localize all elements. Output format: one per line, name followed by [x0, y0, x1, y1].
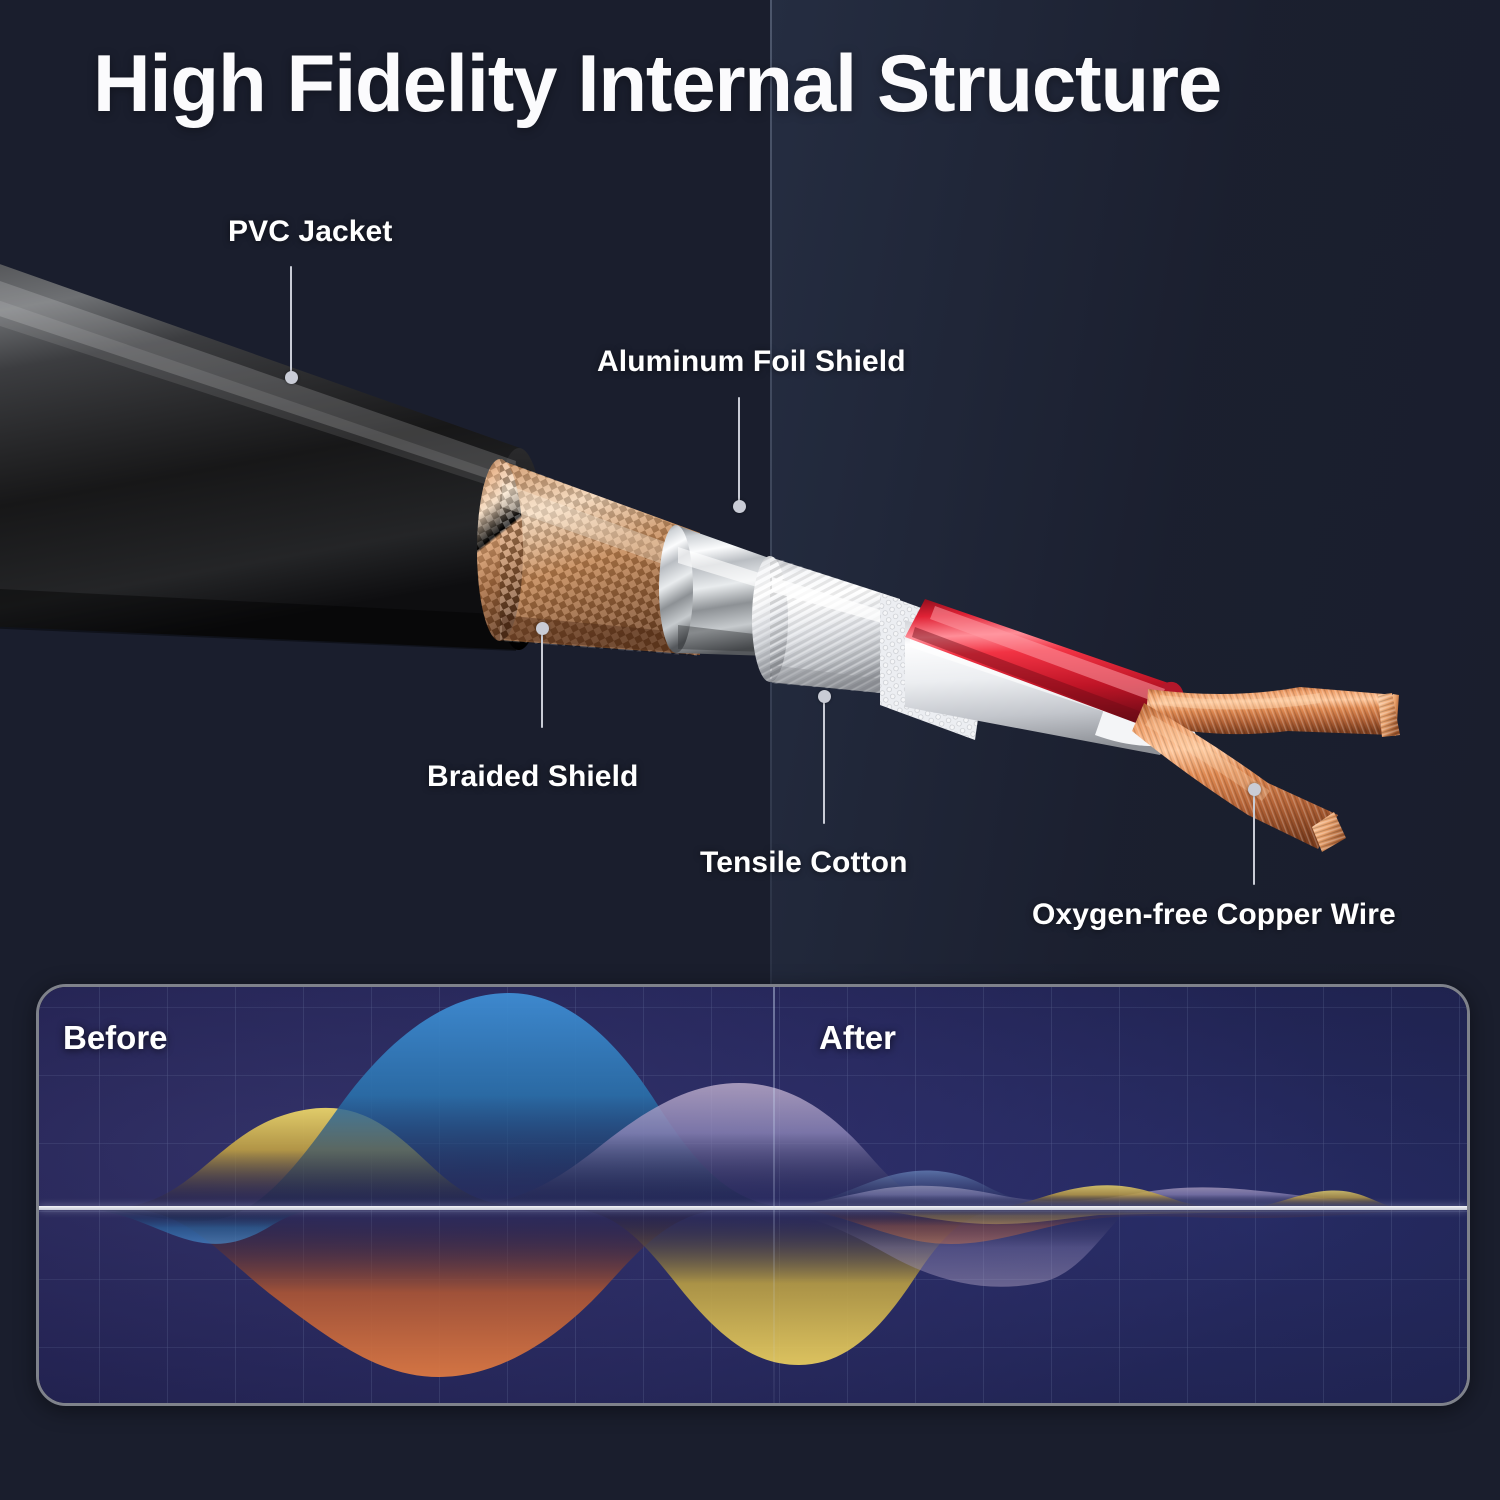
panel-vertical-divider — [773, 987, 775, 1403]
leader-line-aluminum-foil — [738, 397, 740, 505]
callout-label-pvc-jacket: PVC Jacket — [228, 215, 392, 248]
leader-dot-tensile-cotton — [818, 690, 831, 703]
callout-copper-wire: Oxygen-free Copper Wire — [1032, 898, 1396, 932]
callout-label-aluminum-foil: Aluminum Foil Shield — [597, 345, 906, 378]
leader-dot-aluminum-foil — [733, 500, 746, 513]
cable-layer-pvc-jacket — [0, 250, 545, 651]
before-label: Before — [63, 1019, 168, 1057]
leader-line-tensile-cotton — [823, 696, 825, 824]
cable-layer-copper-wire — [1132, 687, 1400, 852]
leader-line-braided-shield — [541, 628, 543, 728]
after-label: After — [819, 1019, 896, 1057]
cable-cutaway-illustration — [0, 195, 1500, 895]
leader-dot-copper-wire — [1248, 783, 1261, 796]
callout-aluminum-foil: Aluminum Foil Shield — [597, 345, 906, 379]
callout-label-braided-shield: Braided Shield — [427, 760, 638, 793]
callout-label-tensile-cotton: Tensile Cotton — [700, 846, 908, 879]
callout-pvc-jacket: PVC Jacket — [228, 215, 392, 249]
waveform-axis-line — [39, 1206, 1467, 1210]
infographic-root: High Fidelity Internal Structure — [0, 0, 1500, 1500]
leader-line-pvc-jacket — [290, 266, 292, 372]
waveform-graphic — [39, 987, 1467, 1403]
comparison-panel: Before After — [36, 984, 1470, 1406]
leader-line-copper-wire — [1253, 789, 1255, 885]
leader-dot-braided-shield — [536, 622, 549, 635]
callout-braided-shield: Braided Shield — [427, 760, 638, 794]
callout-tensile-cotton: Tensile Cotton — [700, 846, 908, 880]
callout-label-copper-wire: Oxygen-free Copper Wire — [1032, 898, 1396, 931]
page-title: High Fidelity Internal Structure — [93, 44, 1221, 125]
leader-dot-pvc-jacket — [285, 371, 298, 384]
